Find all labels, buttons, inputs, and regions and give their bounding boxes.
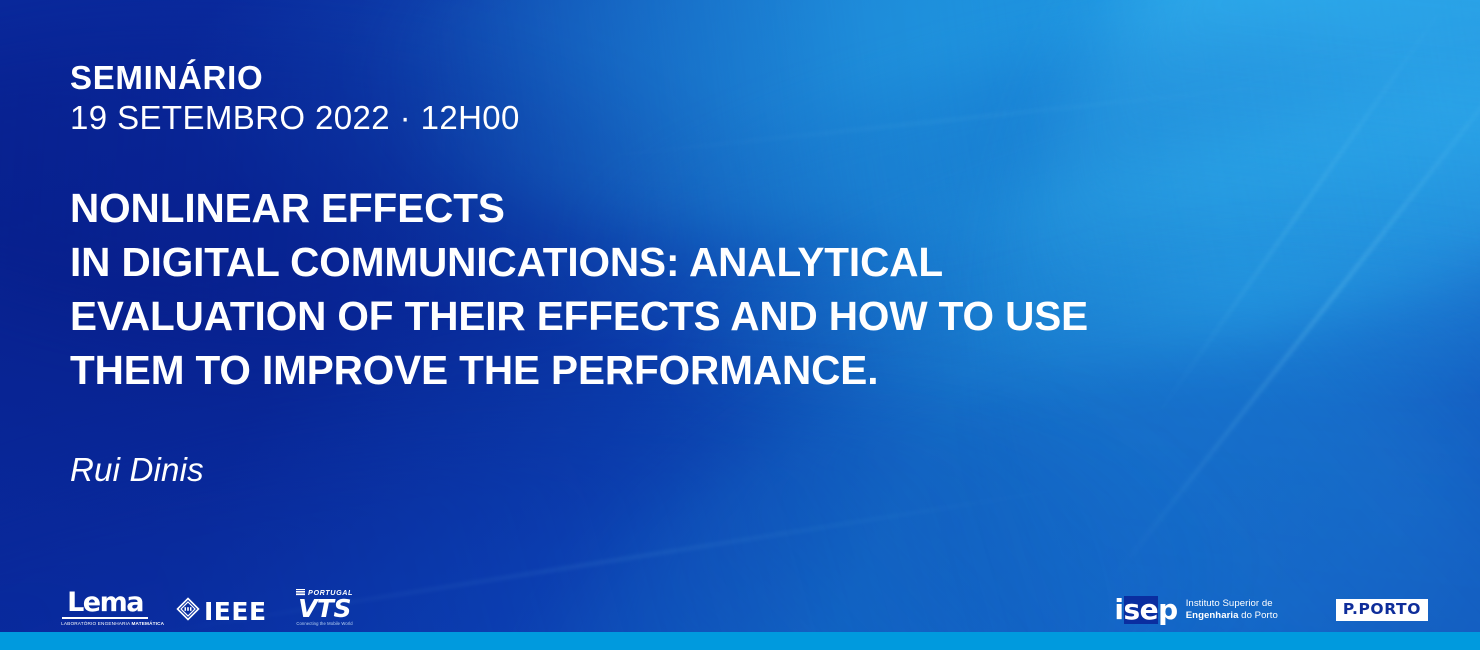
title-line: THEM TO IMPROVE THE PERFORMANCE. xyxy=(70,344,1410,398)
isep-wordmark-i: i xyxy=(1114,596,1123,624)
portugal-flag-icon xyxy=(296,589,305,596)
vts-wordmark: VTS xyxy=(295,598,355,621)
isep-name-line2-plain: do Porto xyxy=(1238,610,1277,621)
speaker-name: Rui Dinis xyxy=(70,451,204,489)
title-line: EVALUATION OF THEIR EFFECTS AND HOW TO U… xyxy=(70,290,1410,344)
lema-subtitle-bold: MATEMÁTICA xyxy=(131,621,164,626)
lema-subtitle-plain: LABORATÓRIO ENGENHARIA xyxy=(61,621,131,626)
pporto-logo: P.PORTO xyxy=(1336,599,1428,621)
isep-wordmark-p: p xyxy=(1158,596,1178,624)
lema-subtitle: LABORATÓRIO ENGENHARIA MATEMÁTICA xyxy=(61,621,149,626)
isep-logo: isep Instituto Superior de Engenharia do… xyxy=(1114,596,1277,624)
isep-name-line1: Instituto Superior de xyxy=(1186,598,1273,609)
ieee-logo: IEEE xyxy=(176,597,267,626)
ieee-diamond-icon xyxy=(176,597,200,626)
lema-wordmark: Lema xyxy=(62,590,148,619)
seminar-banner: SEMINÁRIO 19 SETEMBRO 2022 · 12H00 NONLI… xyxy=(0,0,1480,650)
isep-full-name: Instituto Superior de Engenharia do Port… xyxy=(1186,598,1278,621)
institution-logos-right: isep Instituto Superior de Engenharia do… xyxy=(1114,596,1428,624)
event-header: SEMINÁRIO 19 SETEMBRO 2022 · 12H00 xyxy=(70,60,520,137)
banner-content: SEMINÁRIO 19 SETEMBRO 2022 · 12H00 NONLI… xyxy=(0,0,1480,650)
ieee-wordmark: IEEE xyxy=(204,597,267,626)
title-line: IN DIGITAL COMMUNICATIONS: ANALYTICAL xyxy=(70,236,1410,290)
seminar-title: NONLINEAR EFFECTS IN DIGITAL COMMUNICATI… xyxy=(70,182,1410,397)
vts-logo: PORTUGAL VTS Connecting the Mobile World xyxy=(295,588,355,627)
lema-logo: Lema LABORATÓRIO ENGENHARIA MATEMÁTICA xyxy=(62,590,148,626)
title-line: NONLINEAR EFFECTS xyxy=(70,182,1410,236)
isep-wordmark-se: se xyxy=(1124,596,1159,624)
event-datetime: 19 SETEMBRO 2022 · 12H00 xyxy=(70,100,520,137)
vts-tagline: Connecting the Mobile World xyxy=(295,621,355,626)
event-type-label: SEMINÁRIO xyxy=(70,60,520,96)
partner-logos-left: Lema LABORATÓRIO ENGENHARIA MATEMÁTICA I… xyxy=(62,588,355,627)
isep-name-line2-bold: Engenharia xyxy=(1186,610,1239,621)
isep-wordmark: isep xyxy=(1114,596,1177,624)
bottom-accent-bar xyxy=(0,632,1480,650)
